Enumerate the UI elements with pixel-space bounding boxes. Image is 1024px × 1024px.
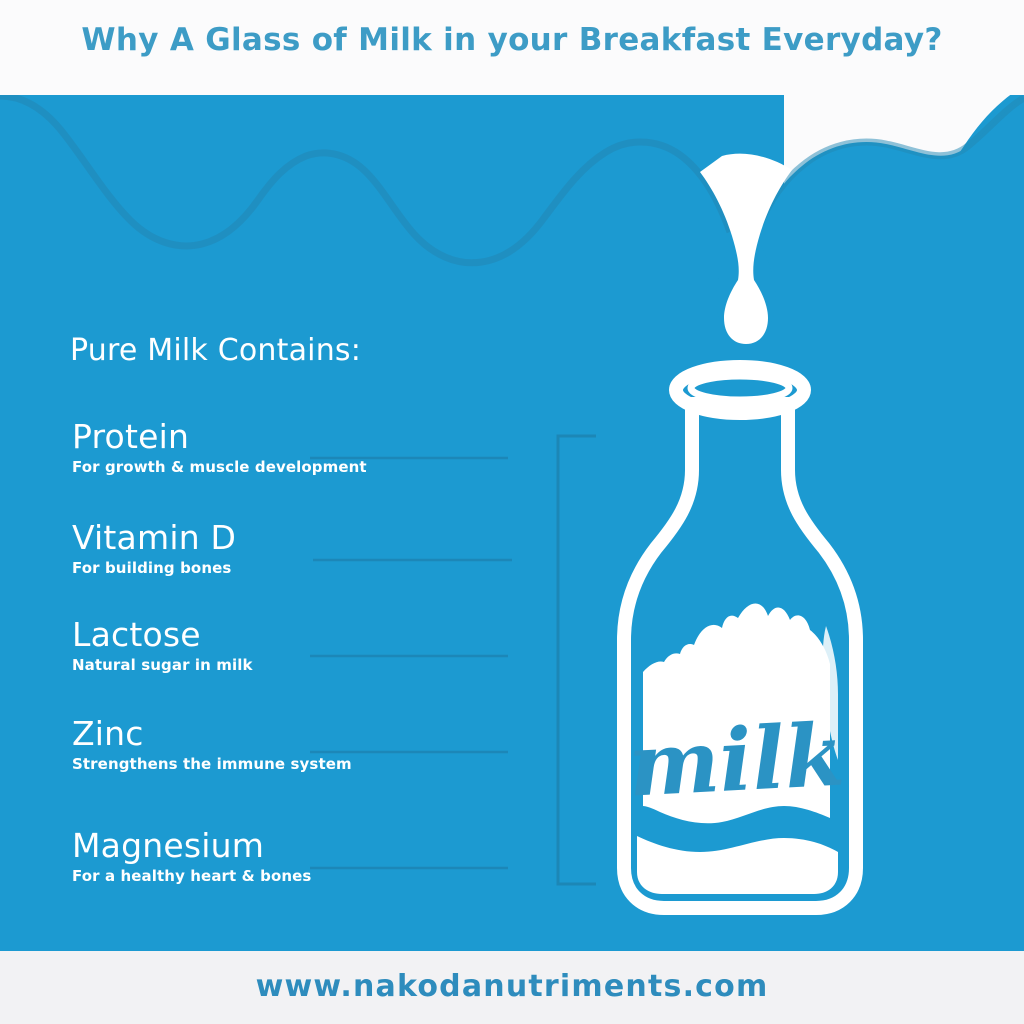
nutrient-description: Natural sugar in milk: [72, 656, 253, 674]
nutrient-description: For building bones: [72, 559, 236, 577]
nutrient-description: For a healthy heart & bones: [72, 867, 311, 885]
website-url[interactable]: www.nakodanutriments.com: [0, 969, 1024, 1004]
page-title: Why A Glass of Milk in your Breakfast Ev…: [0, 22, 1024, 58]
nutrient-item-lactose: Lactose Natural sugar in milk: [72, 618, 253, 674]
nutrient-item-magnesium: Magnesium For a healthy heart & bones: [72, 829, 311, 885]
footer-band: www.nakodanutriments.com: [0, 951, 1024, 1024]
nutrient-name: Zinc: [72, 717, 352, 752]
nutrient-item-protein: Protein For growth & muscle development: [72, 420, 367, 476]
nutrient-description: For growth & muscle development: [72, 458, 367, 476]
nutrient-item-zinc: Zinc Strengthens the immune system: [72, 717, 352, 773]
milk-infographic: milk Why A Glass of Milk in your Breakfa…: [0, 0, 1024, 1024]
nutrient-name: Protein: [72, 420, 367, 455]
title-band: Why A Glass of Milk in your Breakfast Ev…: [0, 0, 1024, 95]
nutrient-name: Magnesium: [72, 829, 311, 864]
nutrient-description: Strengthens the immune system: [72, 755, 352, 773]
list-heading: Pure Milk Contains:: [70, 333, 361, 368]
bottle-label-milk: milk: [626, 704, 847, 816]
nutrient-name: Vitamin D: [72, 521, 236, 556]
nutrient-name: Lactose: [72, 618, 253, 653]
nutrient-item-vitamin-d: Vitamin D For building bones: [72, 521, 236, 577]
